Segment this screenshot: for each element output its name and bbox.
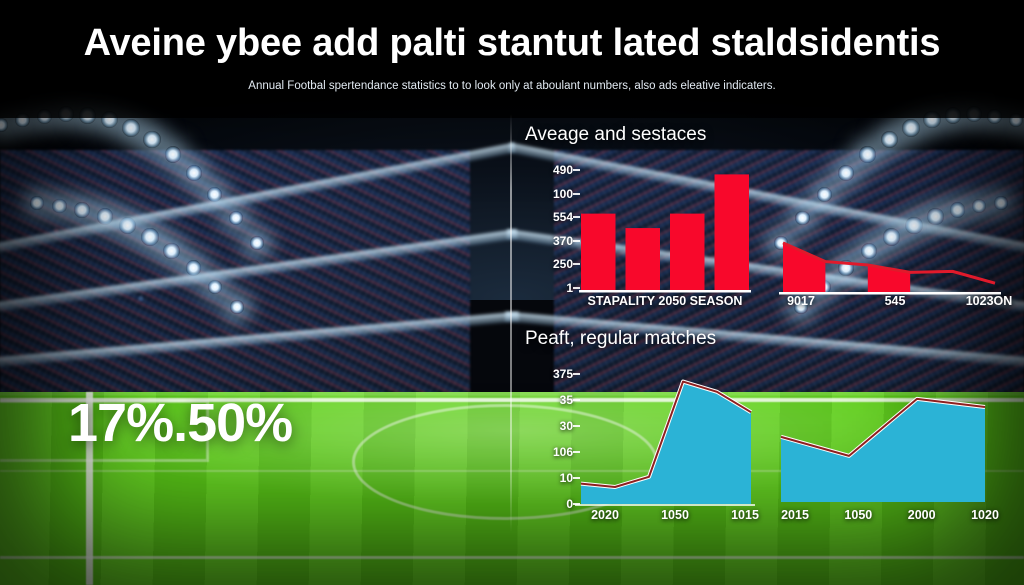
x-axis-label: STAPALITY 2050 SEASON (588, 294, 743, 308)
bar-chart: 4901005543702501STAPALITY 2050 SEASON (525, 156, 755, 316)
floodlight-lamp (141, 228, 159, 246)
x-axis-label: 1015 (731, 508, 759, 522)
bar (715, 174, 750, 290)
floodlight-lamp (119, 217, 137, 235)
bar (581, 214, 616, 290)
x-axis-label: 1050 (661, 508, 689, 522)
pitch-line-bottom (0, 556, 1024, 559)
x-axis-label: 545 (885, 294, 906, 308)
floodlight-lamp (143, 131, 160, 148)
panel-peaft-regular-matches: Peaft, regular matches 37535301061002020… (525, 328, 1005, 528)
mini-line-chart-top: 90175451023ON (773, 234, 1003, 316)
floodlight-lamp (0, 118, 8, 132)
floodlight-lamp (250, 236, 264, 250)
floodlight-lamp (30, 196, 44, 210)
bar (626, 228, 661, 290)
floodlight-lamp (207, 187, 222, 202)
x-axis-label: 2020 (591, 508, 619, 522)
x-axis-label: 1050 (844, 508, 872, 522)
x-axis-label: 2000 (908, 508, 936, 522)
area-fill (783, 243, 825, 292)
floodlight-lamp (186, 165, 202, 181)
x-axis-line (575, 504, 755, 506)
floodlight-lamp (97, 208, 114, 225)
area-fill (781, 399, 985, 502)
floodlight-lamp (163, 243, 180, 260)
floodlight-lamp (122, 119, 140, 137)
panel-top-title: Aveage and sestaces (525, 124, 1005, 146)
x-axis-label: 1020 (971, 508, 999, 522)
panel-bottom-title: Peaft, regular matches (525, 328, 1005, 350)
area-chart-bottom-right: 2015105020001020 (767, 378, 1003, 532)
x-axis-label: 9017 (787, 294, 815, 308)
x-axis-label: 2015 (781, 508, 809, 522)
big-stat-value: 17%.50% (68, 392, 292, 454)
floodlight-lamp (74, 202, 90, 218)
x-axis-line (579, 290, 751, 293)
floodlight-lamp (186, 260, 202, 276)
floodlight-lamp (230, 300, 244, 314)
infographic-stage: Aveine ybee add palti stantut lated stal… (0, 0, 1024, 585)
page-subtitle: Annual Footbal spertendance statistics t… (192, 79, 832, 94)
bar (670, 214, 705, 290)
page-title: Aveine ybee add palti stantut lated stal… (0, 22, 1024, 65)
floodlight-lamp (229, 211, 243, 225)
floodlight-lamp (52, 199, 67, 214)
area-chart-bottom-left: 3753530106100202010501015 (525, 360, 757, 532)
floodlight-lamp (165, 146, 182, 163)
x-axis-label: 1023ON (966, 294, 1013, 308)
header: Aveine ybee add palti stantut lated stal… (0, 0, 1024, 94)
panel-average-and-sestaces: Aveage and sestaces 4901005543702501STAP… (525, 124, 1005, 309)
panel-divider (510, 114, 512, 532)
